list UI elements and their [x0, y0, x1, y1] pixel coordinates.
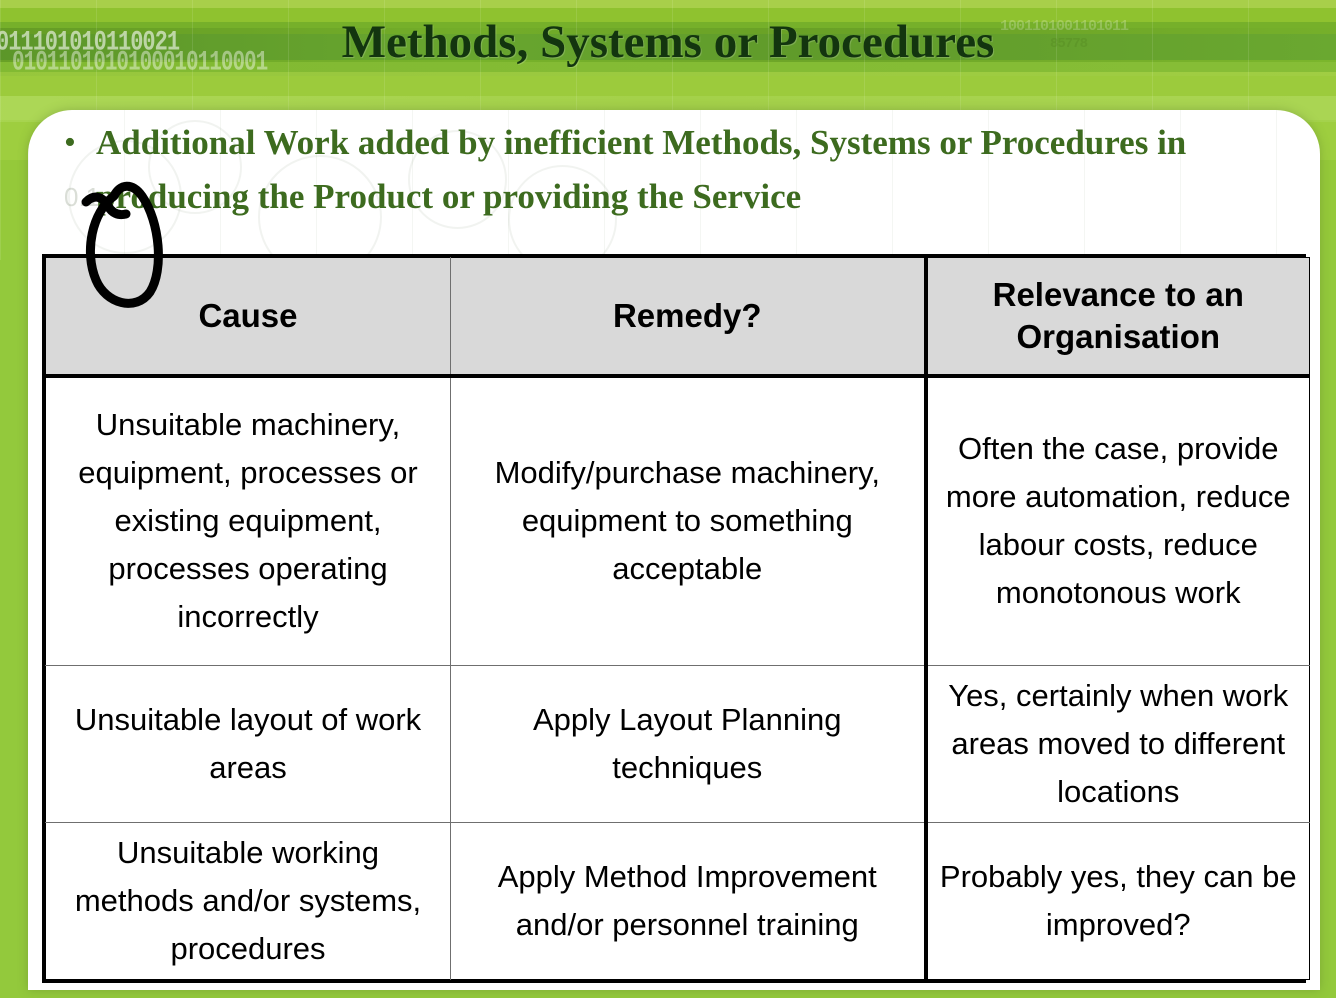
slide: 011101010110021 0101101010100010110001 1…	[0, 0, 1336, 998]
table-header: Cause Remedy? Relevance to an Organisati…	[46, 258, 1310, 376]
column-header-remedy: Remedy?	[451, 258, 926, 376]
bullet-item: • Additional Work added by inefficient M…	[44, 116, 1324, 224]
cell-relevance: Yes, certainly when work areas moved to …	[926, 666, 1310, 823]
cell-remedy: Modify/purchase machinery, equipment to …	[451, 376, 926, 666]
cause-remedy-table-wrapper: Cause Remedy? Relevance to an Organisati…	[42, 254, 1306, 983]
cell-remedy: Apply Layout Planning techniques	[451, 666, 926, 823]
cell-cause: Unsuitable machinery, equipment, process…	[46, 376, 451, 666]
column-header-relevance: Relevance to an Organisation	[926, 258, 1310, 376]
cell-relevance: Probably yes, they can be improved?	[926, 823, 1310, 980]
bullet-marker-icon: •	[44, 116, 96, 170]
table-row: Unsuitable machinery, equipment, process…	[46, 376, 1310, 666]
table-body: Unsuitable machinery, equipment, process…	[46, 376, 1310, 980]
table-header-row: Cause Remedy? Relevance to an Organisati…	[46, 258, 1310, 376]
bullet-item-text: Additional Work added by inefficient Met…	[96, 116, 1324, 224]
table-row: Unsuitable working methods and/or system…	[46, 823, 1310, 980]
cell-relevance: Often the case, provide more automation,…	[926, 376, 1310, 666]
cell-cause: Unsuitable layout of work areas	[46, 666, 451, 823]
column-header-cause: Cause	[46, 258, 451, 376]
cell-remedy: Apply Method Improvement and/or personne…	[451, 823, 926, 980]
page-title: Methods, Systems or Procedures	[0, 14, 1336, 70]
cause-remedy-table: Cause Remedy? Relevance to an Organisati…	[45, 257, 1310, 980]
cell-cause: Unsuitable working methods and/or system…	[46, 823, 451, 980]
table-row: Unsuitable layout of work areas Apply La…	[46, 666, 1310, 823]
